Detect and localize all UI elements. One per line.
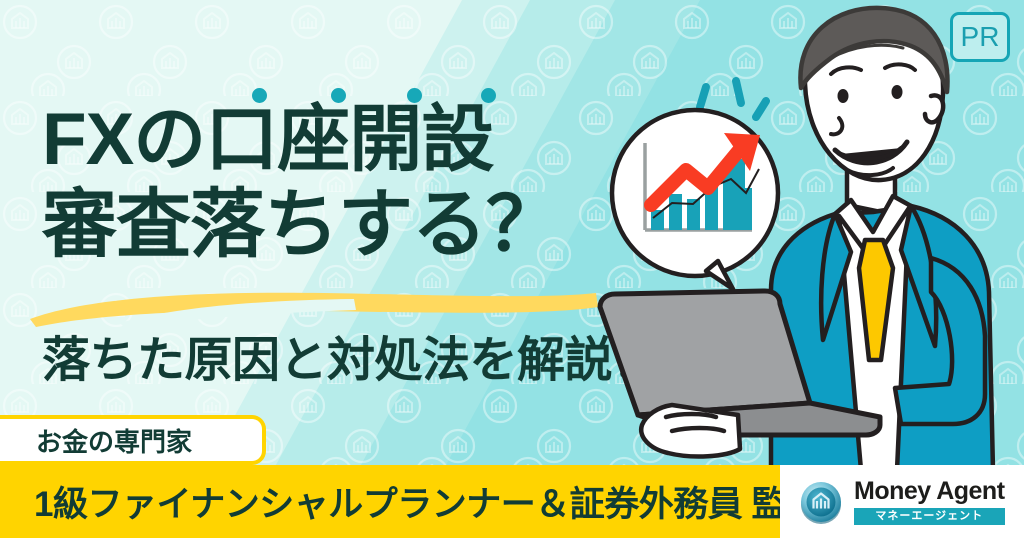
expert-callout-label: お金の専門家	[36, 422, 192, 459]
promo-banner: FXの口座開設 審査落ちする？ 落ちた原因と対処法を解説！	[0, 0, 1024, 538]
laptop-illustration	[580, 285, 910, 465]
money-agent-coin-icon	[798, 479, 844, 525]
headline-line-1: FXの口座開設	[42, 98, 622, 182]
brand-subtitle: マネーエージェント	[854, 508, 1005, 525]
pr-badge: PR	[950, 12, 1010, 62]
headline-line-2: 審査落ちする？	[42, 182, 622, 266]
expert-callout-bubble: お金の専門家	[0, 415, 266, 465]
brand-logo-text: Money Agent マネーエージェント	[854, 478, 1005, 525]
headline-subline: 落ちた原因と対処法を解説！	[42, 333, 660, 389]
headline-block: FXの口座開設 審査落ちする？	[42, 98, 622, 266]
brand-name: Money Agent	[854, 478, 1005, 505]
brand-logo-panel: Money Agent マネーエージェント	[780, 465, 1024, 538]
credential-banner: 1級ファイナンシャルプランナー＆証券外務員 監修	[0, 465, 780, 538]
credential-banner-label: 1級ファイナンシャルプランナー＆証券外務員 監修	[34, 476, 821, 527]
pr-badge-label: PR	[961, 23, 1000, 51]
